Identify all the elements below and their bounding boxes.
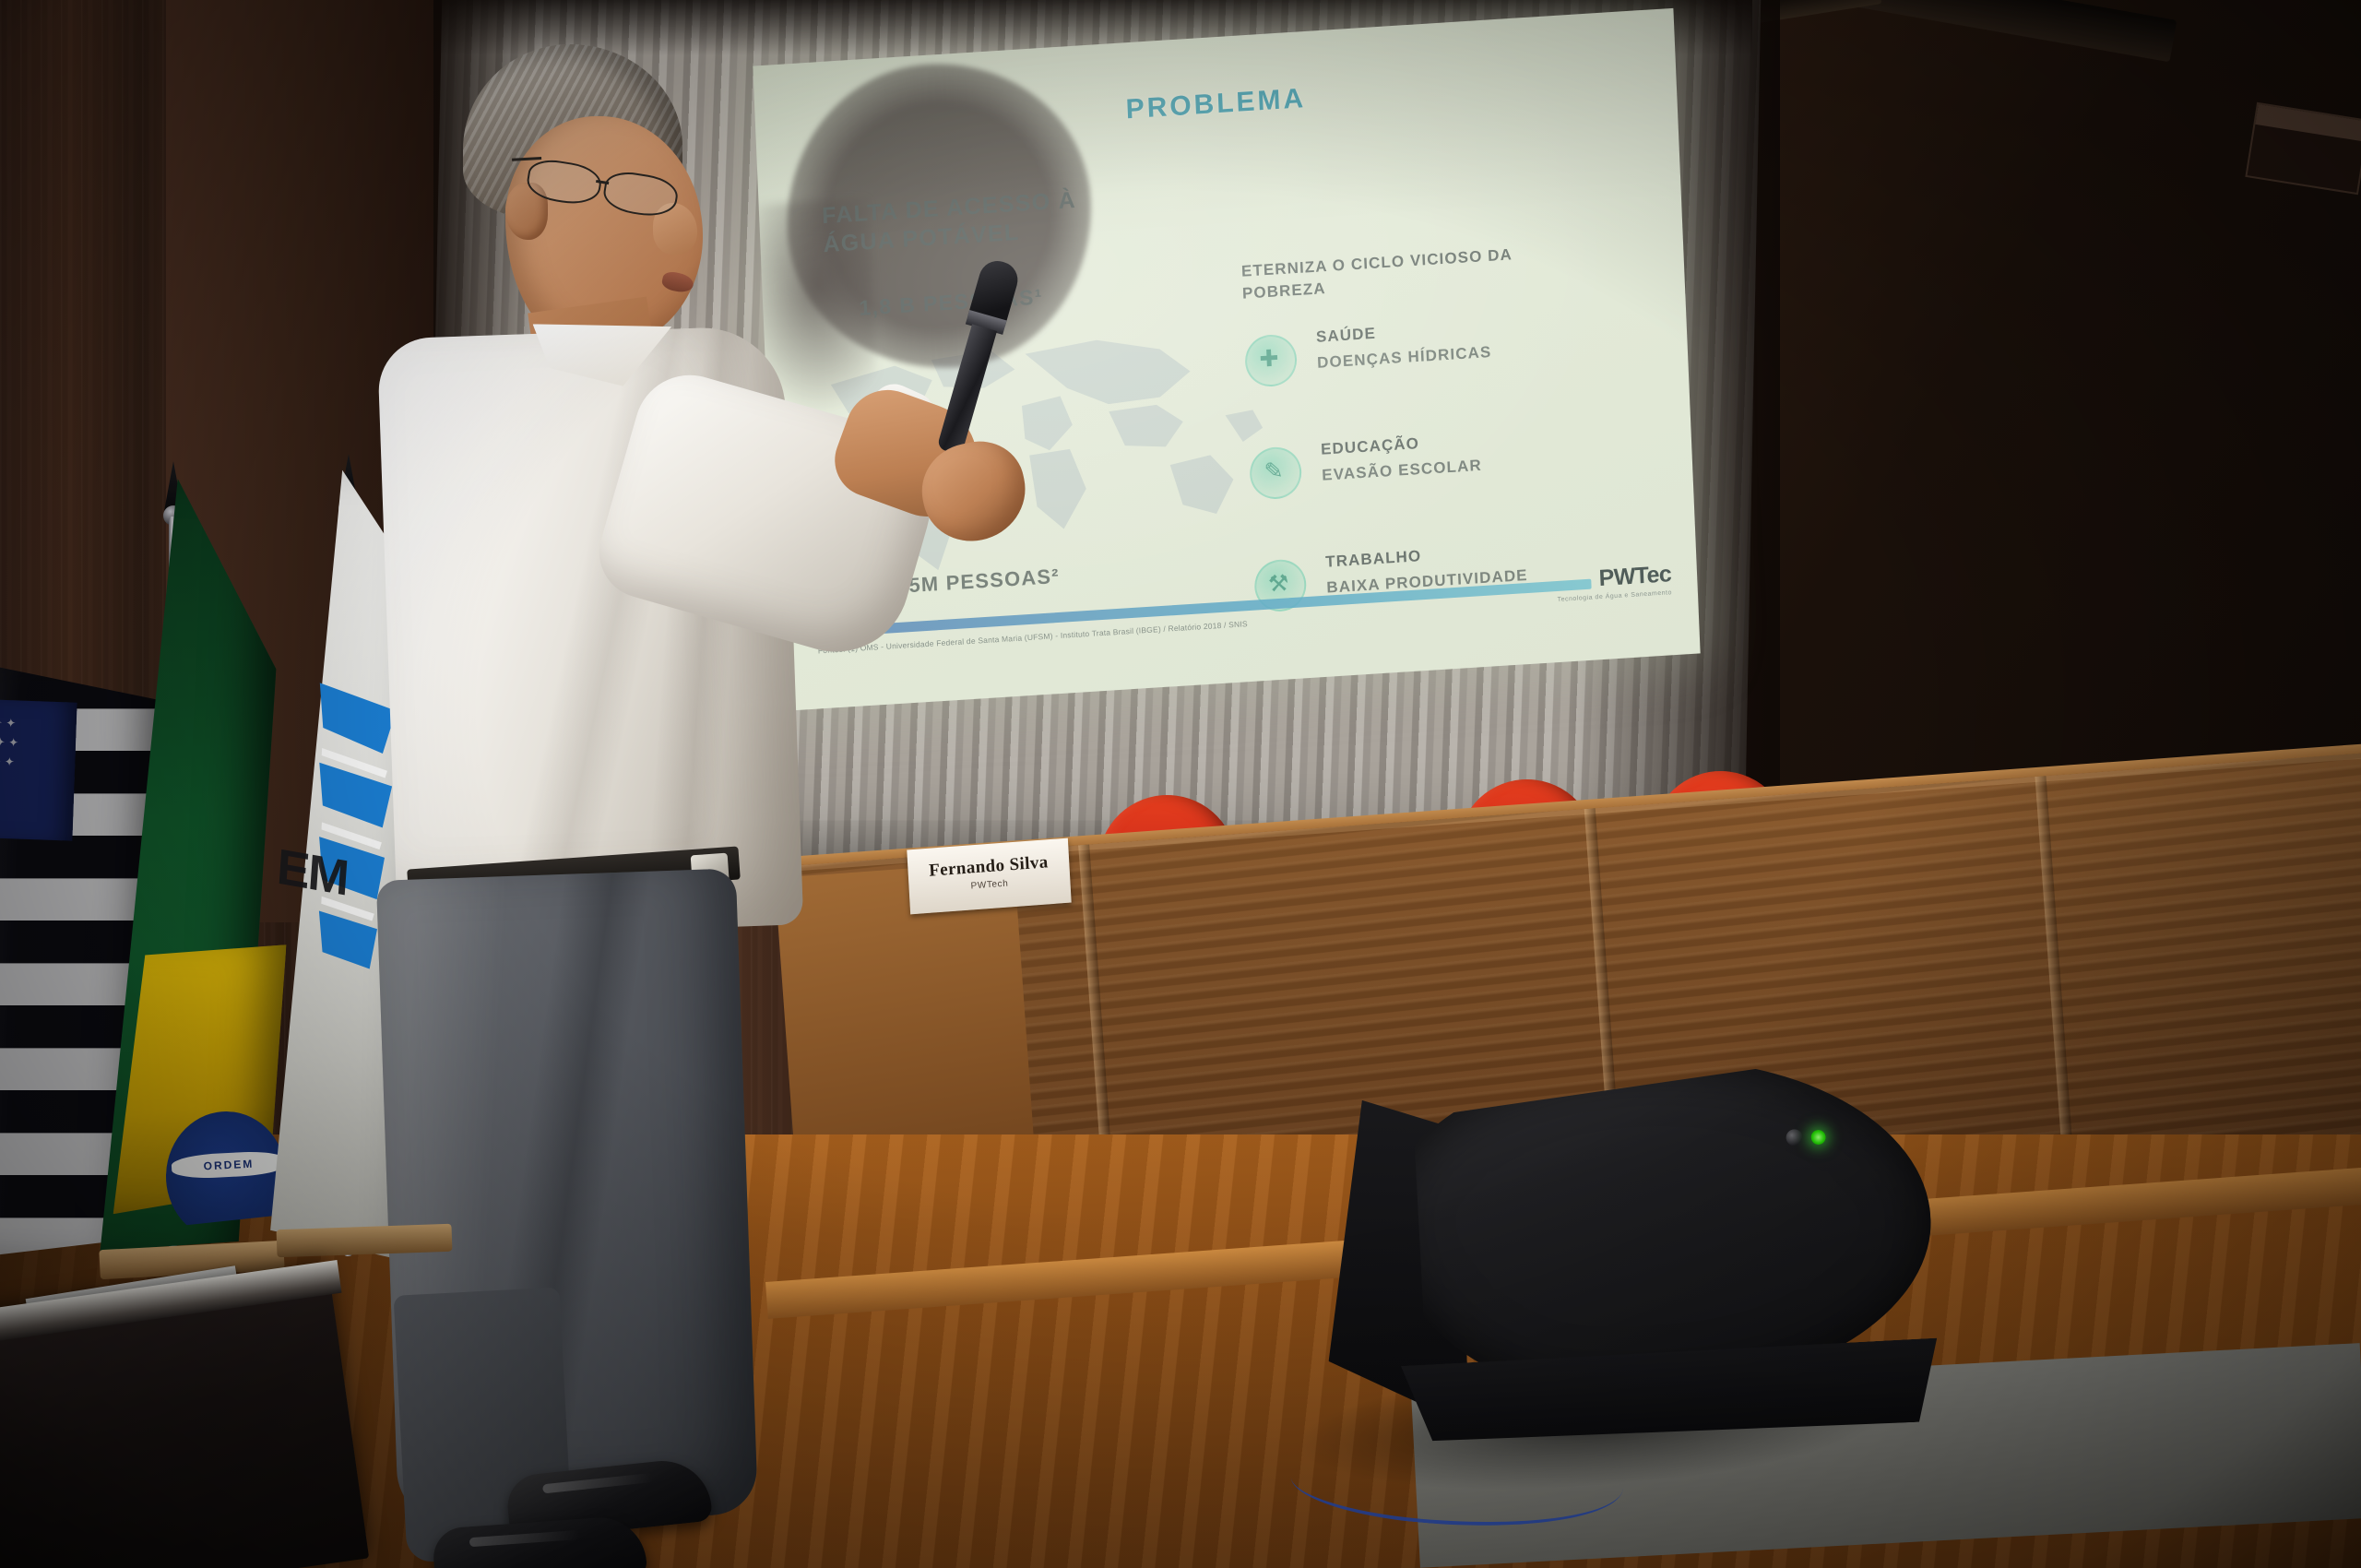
name-placard: Fernando Silva PWTech — [907, 838, 1071, 915]
impact-label-work: TRABALHO — [1325, 540, 1527, 572]
institution-flag-letters: EM — [275, 837, 350, 907]
impact-label-education: EDUCAÇÃO — [1321, 431, 1481, 459]
shoe-highlight-left — [469, 1530, 580, 1547]
impact-label-health: SAÚDE — [1316, 317, 1491, 347]
slide-impact-education: ✎ EDUCAÇÃO EVASÃO ESCOLAR — [1249, 419, 1676, 530]
impact-detail-education: EVASÃO ESCOLAR — [1322, 457, 1482, 485]
health-icon: ✚ — [1244, 334, 1294, 385]
eyeglass-lens-right — [601, 169, 681, 220]
stage-monitor-speaker — [1313, 1045, 1941, 1464]
eyeglass-lens-left — [525, 157, 604, 208]
auditorium-scene: PROBLEMA FALTA DE ACESSO À ÁGUA POTÁVEL … — [0, 0, 2361, 1568]
eyeglass-temple — [512, 157, 541, 161]
slide-impact-health: ✚ SAÚDE DOENÇAS HÍDRICAS — [1244, 306, 1671, 418]
presenter — [397, 28, 913, 1568]
slide-logo-block: PWTec Tecnologia de Água e Saneamento — [1556, 561, 1672, 603]
education-icon: ✎ — [1249, 446, 1299, 497]
shoe-highlight-right — [542, 1473, 653, 1493]
sp-flag-stars: ✦ ✦ ✦ ✦✦ ✦ — [0, 714, 66, 827]
slide-consequence-text: ETERNIZA O CICLO VICIOSO DA POBREZA — [1241, 240, 1574, 305]
impact-detail-health: DOENÇAS HÍDRICAS — [1317, 343, 1492, 373]
